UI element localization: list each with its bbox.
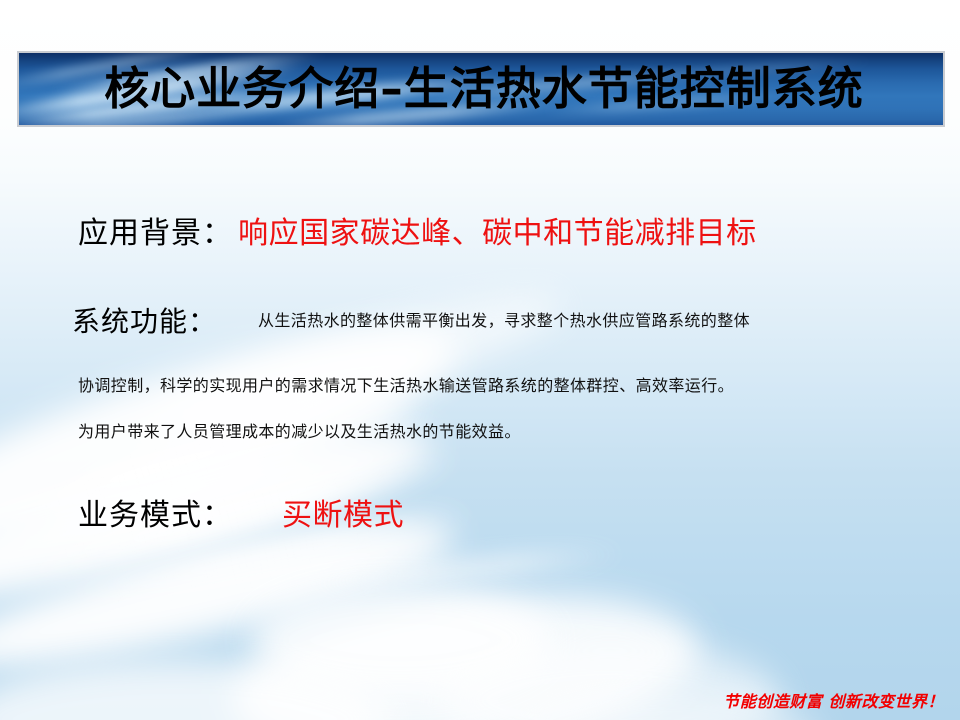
section-label-system-function: 系统功能： <box>72 305 217 338</box>
section-function-line-2: 协调控制，科学的实现用户的需求情况下生活热水输送管路系统的整体群控、高效率运行。 <box>78 372 734 396</box>
slide-body: 应用背景： 响应国家碳达峰、碳中和节能减排目标 系统功能： 从生活热水的整体供需… <box>0 0 960 720</box>
section-application-background: 应用背景： 响应国家碳达峰、碳中和节能减排目标 <box>78 208 757 252</box>
section-function-line-1: 从生活热水的整体供需平衡出发，寻求整个热水供应管路系统的整体 <box>258 307 750 331</box>
section-label-application-background: 应用背景： <box>78 216 233 251</box>
section-value-business-mode: 买断模式 <box>282 490 404 534</box>
slide-canvas: 核心业务介绍–生活热水节能控制系统 应用背景： 响应国家碳达峰、碳中和节能减排目… <box>0 0 960 720</box>
section-business-mode: 业务模式： <box>78 490 233 534</box>
section-value-application-background: 响应国家碳达峰、碳中和节能减排目标 <box>238 216 757 251</box>
section-function-line-3: 为用户带来了人员管理成本的减少以及生活热水的节能效益。 <box>78 418 521 442</box>
section-system-function: 系统功能： <box>72 300 217 340</box>
section-label-business-mode: 业务模式： <box>78 498 233 533</box>
footer-slogan: 节能创造财富 创新改变世界！ <box>723 688 944 712</box>
